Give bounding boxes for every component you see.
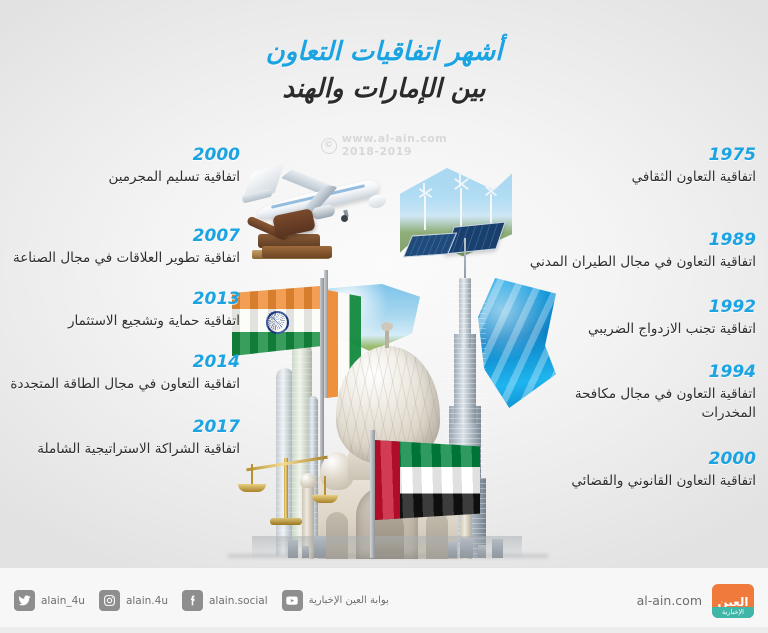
agreement-description: اتفاقية التعاون في مجال مكافحة المخدرات bbox=[524, 385, 756, 424]
agreement-description: اتفاقية حماية وتشجيع الاستثمار bbox=[8, 312, 240, 332]
social-link-twitter[interactable]: alain_4u bbox=[14, 590, 85, 611]
social-link-youtube[interactable]: بوابة العين الإخبارية bbox=[282, 590, 389, 611]
agreement-description: اتفاقية التعاون الثقافي bbox=[524, 168, 756, 188]
agreement-year: 2000 bbox=[524, 450, 756, 470]
agreement-description: اتفاقية التعاون في مجال الطاقة المتجددة bbox=[8, 375, 240, 395]
agreement-year: 1992 bbox=[524, 298, 756, 318]
youtube-icon[interactable] bbox=[282, 590, 303, 611]
logo-text-secondary: الإخبارية bbox=[712, 607, 754, 618]
agreement-description: اتفاقية تسليم المجرمين bbox=[8, 168, 240, 188]
agreement-entry: 2000 اتفاقية التعاون القانوني والقضائي bbox=[524, 450, 756, 491]
social-handle-instagram: alain.4u bbox=[126, 595, 168, 607]
watermark-years: 2018-2019 bbox=[342, 145, 412, 158]
agreements-column-left: 2000 اتفاقية تسليم المجرمين 2007 اتفاقية… bbox=[8, 146, 240, 482]
agreement-entry: 2017 اتفاقية الشراكة الاستراتيجية الشامل… bbox=[8, 418, 240, 459]
agreement-year: 2014 bbox=[8, 353, 240, 373]
agreement-description: اتفاقية تجنب الازدواج الضريبي bbox=[524, 320, 756, 340]
wind-turbine-icon bbox=[424, 196, 426, 230]
social-handle-facebook: alain.social bbox=[209, 595, 268, 607]
brand-url[interactable]: al-ain.com bbox=[637, 593, 702, 608]
agreement-description: اتفاقية التعاون في مجال الطيران المدني bbox=[524, 253, 756, 273]
social-link-instagram[interactable]: alain.4u bbox=[99, 590, 168, 611]
agreement-description: اتفاقية التعاون القانوني والقضائي bbox=[524, 472, 756, 492]
agreement-year: 1989 bbox=[524, 231, 756, 251]
social-handle-youtube: بوابة العين الإخبارية bbox=[309, 595, 389, 606]
agreement-entry: 1989 اتفاقية التعاون في مجال الطيران الم… bbox=[524, 231, 756, 272]
social-links: alain_4u alain.4u alain.social bbox=[14, 590, 389, 611]
page-title: أشهر اتفاقيات التعاون بين الإمارات والهن… bbox=[0, 36, 768, 106]
agreements-column-right: 1975 اتفاقية التعاون الثقافي 1989 اتفاقي… bbox=[524, 146, 756, 513]
infographic-poster: أشهر اتفاقيات التعاون بين الإمارات والهن… bbox=[0, 0, 768, 633]
justice-scales-icon bbox=[232, 450, 342, 558]
agreement-year: 2017 bbox=[8, 418, 240, 438]
title-line-secondary: بين الإمارات والهند bbox=[0, 73, 768, 107]
instagram-icon[interactable] bbox=[99, 590, 120, 611]
agreement-year: 2013 bbox=[8, 290, 240, 310]
al-ain-logo-icon[interactable]: العين الإخبارية bbox=[712, 584, 754, 618]
central-illustration bbox=[228, 150, 548, 565]
watermark-site: www.al-ain.com bbox=[342, 132, 447, 145]
agreement-entry: 2013 اتفاقية حماية وتشجيع الاستثمار bbox=[8, 290, 240, 331]
facebook-icon[interactable] bbox=[182, 590, 203, 611]
footer-bar: alain_4u alain.4u alain.social bbox=[0, 567, 768, 633]
footer-bottom-strip bbox=[0, 627, 768, 633]
agreement-entry: 1994 اتفاقية التعاون في مجال مكافحة المخ… bbox=[524, 363, 756, 424]
social-handle-twitter: alain_4u bbox=[41, 595, 85, 607]
brand-block[interactable]: al-ain.com العين الإخبارية bbox=[637, 584, 754, 618]
copyright-icon: © bbox=[321, 138, 337, 154]
agreement-entry: 1992 اتفاقية تجنب الازدواج الضريبي bbox=[524, 298, 756, 339]
agreement-description: اتفاقية تطوير العلاقات في مجال الصناعة bbox=[8, 249, 240, 269]
agreement-year: 1994 bbox=[524, 363, 756, 383]
social-link-facebook[interactable]: alain.social bbox=[182, 590, 268, 611]
uae-flag-icon bbox=[370, 430, 482, 558]
agreement-entry: 2014 اتفاقية التعاون في مجال الطاقة المت… bbox=[8, 353, 240, 394]
watermark: © www.al-ain.com 2018-2019 bbox=[0, 133, 768, 158]
agreement-entry: 2007 اتفاقية تطوير العلاقات في مجال الصن… bbox=[8, 227, 240, 268]
twitter-icon[interactable] bbox=[14, 590, 35, 611]
wind-turbine-icon bbox=[490, 194, 492, 224]
title-line-primary: أشهر اتفاقيات التعاون bbox=[0, 36, 768, 69]
agreement-description: اتفاقية الشراكة الاستراتيجية الشاملة bbox=[8, 440, 240, 460]
wind-turbine-icon bbox=[460, 188, 462, 228]
law-books-icon bbox=[262, 246, 332, 258]
agreement-year: 2007 bbox=[8, 227, 240, 247]
